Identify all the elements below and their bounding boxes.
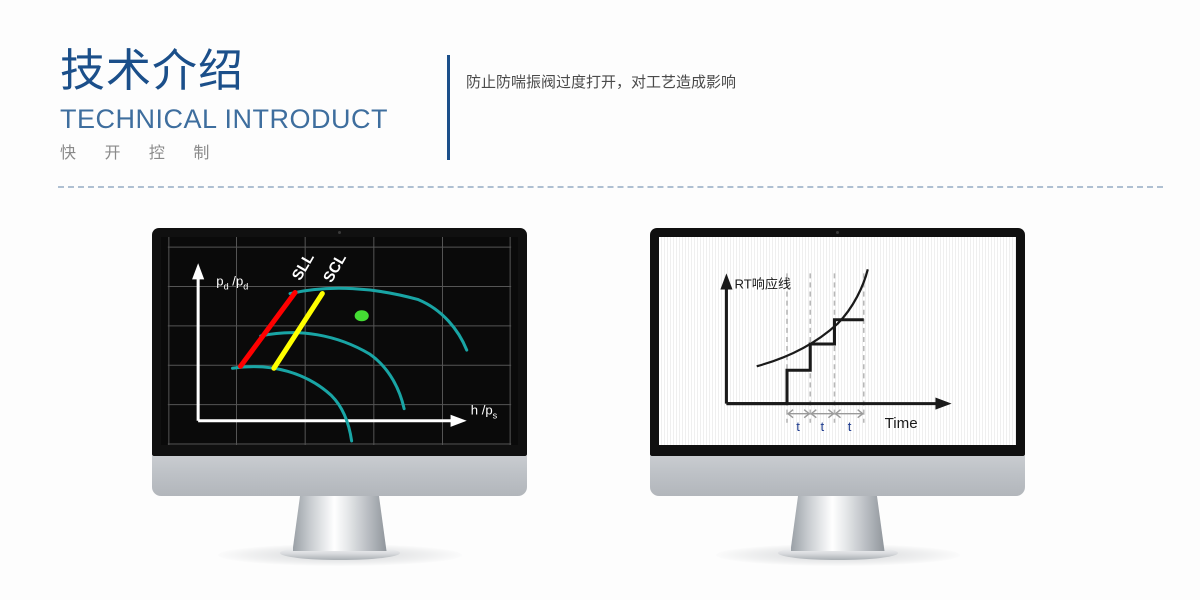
y-axis-label: pd /pd [216,273,248,291]
compressor-map-monitor: pd /pd h /ps [152,228,527,496]
interval-label-1: t [796,419,800,434]
page-title: 技术介绍 [60,44,440,98]
monitor-screen: pd /pd h /ps [161,237,518,445]
sll-label: SLL [289,250,318,283]
header-divider [58,186,1163,188]
monitor-screen: RT响应线 [659,237,1016,445]
slide-header: 技术介绍 TECHNICAL INTRODUCT 快 开 控 制 防止防喘振阀过… [0,0,1200,195]
x-axis-label: Time [885,415,918,432]
x-axis-arrow-icon [935,398,951,410]
rt-response-monitor: RT响应线 [650,228,1025,496]
accent-bar [447,55,450,160]
monitor-chin [650,456,1025,496]
operating-point-marker [355,310,369,321]
interval-label-2: t [821,419,825,434]
monitor-chin [152,456,527,496]
slide-root: 技术介绍 TECHNICAL INTRODUCT 快 开 控 制 防止防喘振阀过… [0,0,1200,600]
page-title-english: TECHNICAL INTRODUCT [60,100,440,138]
interval-arrows [788,410,863,418]
lede-text: 防止防喘振阀过度打开，对工艺造成影响 [466,71,736,95]
speed-curve-3 [232,367,351,441]
webcam-icon [836,231,839,234]
stepped-output-trace [726,320,863,404]
interval-label-3: t [848,419,852,434]
monitor-stand-neck [293,496,387,551]
compressor-map-chart: pd /pd h /ps [161,237,518,445]
monitor-bezel: RT响应线 [650,228,1025,456]
webcam-icon [338,231,341,234]
x-axis-label: h /ps [471,403,498,421]
y-axis-arrow-icon [720,273,732,289]
surge-limit-line [241,293,296,367]
page-subtitle: 快 开 控 制 [60,140,440,168]
x-axis-arrow-icon [451,415,467,427]
rt-response-chart: RT响应线 [659,237,1016,445]
scl-label: SCL [320,251,350,286]
speed-curve-group [232,288,466,441]
y-axis-arrow-icon [192,263,204,279]
surge-control-line [274,294,322,369]
monitor-stand-neck [791,496,885,551]
monitor-bezel: pd /pd h /ps [152,228,527,456]
y-axis-label: RT响应线 [735,276,792,291]
interval-guides [787,273,864,422]
title-block: 技术介绍 TECHNICAL INTRODUCT 快 开 控 制 [60,44,440,168]
speed-curve-1 [290,288,467,350]
